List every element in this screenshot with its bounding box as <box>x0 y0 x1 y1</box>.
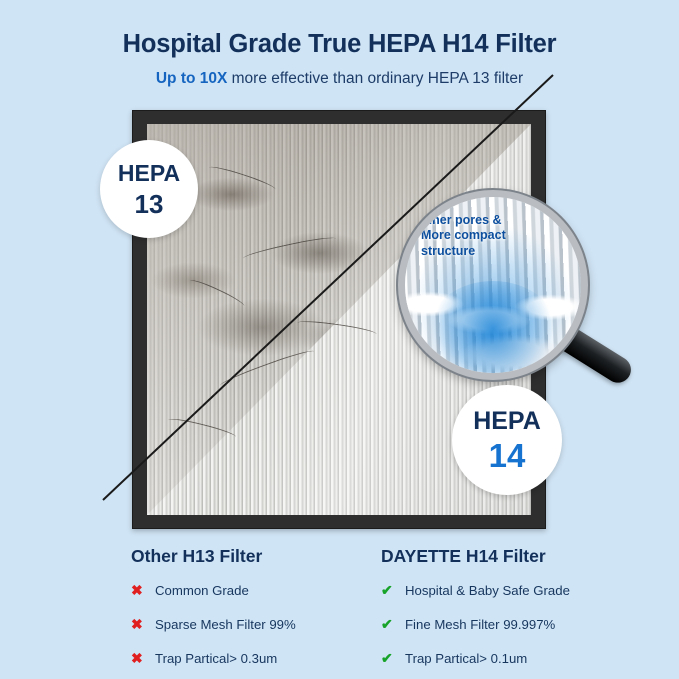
left-column-heading: Other H13 Filter <box>131 546 262 567</box>
badge-hepa-14-bottom: 14 <box>489 439 526 472</box>
check-icon: ✔ <box>381 617 399 631</box>
cross-icon: ✖ <box>131 651 149 665</box>
badge-hepa-13-top: HEPA <box>118 162 180 185</box>
badge-hepa-14: HEPA 14 <box>452 385 562 495</box>
left-feature-label-3: Trap Partical> 0.3um <box>155 651 277 666</box>
subtitle-rest: more effective than ordinary HEPA 13 fil… <box>227 70 523 87</box>
page-title: Hospital Grade True HEPA H14 Filter <box>0 30 679 59</box>
magnifier-caption-line1: Finer pores & <box>421 213 557 228</box>
left-feature-row-2: ✖ Sparse Mesh Filter 99% <box>131 617 371 632</box>
right-feature-label-1: Hospital & Baby Safe Grade <box>405 583 570 598</box>
product-infographic: Hospital Grade True HEPA H14 Filter Up t… <box>0 0 679 679</box>
right-column-heading: DAYETTE H14 Filter <box>381 546 546 567</box>
right-feature-row-3: ✔ Trap Partical> 0.1um <box>381 651 651 666</box>
cross-icon: ✖ <box>131 617 149 631</box>
magnifier-lens: Finer pores & More compact structure <box>398 190 588 380</box>
cross-icon: ✖ <box>131 583 149 597</box>
subtitle: Up to 10X more effective than ordinary H… <box>0 70 679 88</box>
right-feature-row-1: ✔ Hospital & Baby Safe Grade <box>381 583 651 598</box>
right-feature-label-3: Trap Partical> 0.1um <box>405 651 527 666</box>
left-feature-label-1: Common Grade <box>155 583 249 598</box>
right-feature-label-2: Fine Mesh Filter 99.997% <box>405 617 555 632</box>
left-feature-row-1: ✖ Common Grade <box>131 583 371 598</box>
badge-hepa-13-bottom: 13 <box>135 191 164 217</box>
left-feature-label-2: Sparse Mesh Filter 99% <box>155 617 296 632</box>
badge-hepa-13: HEPA 13 <box>100 140 198 238</box>
subtitle-accent: Up to 10X <box>156 70 227 87</box>
check-icon: ✔ <box>381 583 399 597</box>
right-feature-row-2: ✔ Fine Mesh Filter 99.997% <box>381 617 651 632</box>
magnifier-caption-line3: structure <box>421 244 557 259</box>
left-feature-row-3: ✖ Trap Partical> 0.3um <box>131 651 371 666</box>
badge-hepa-14-top: HEPA <box>473 409 541 434</box>
check-icon: ✔ <box>381 651 399 665</box>
magnifier-caption: Finer pores & More compact structure <box>421 213 557 259</box>
magnifier-glow <box>430 281 557 376</box>
magnifier-caption-line2: More compact <box>421 228 557 243</box>
